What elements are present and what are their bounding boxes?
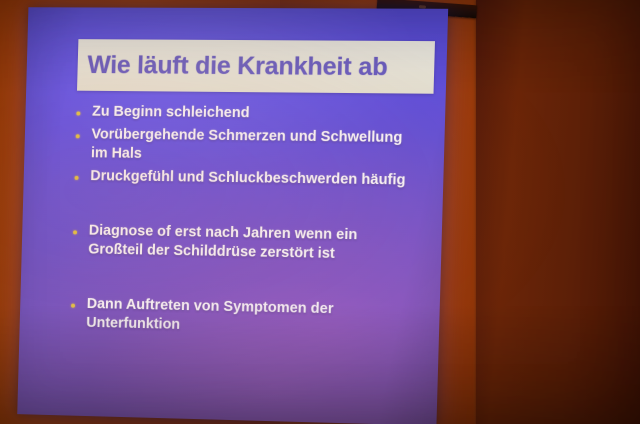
list-item: Zu Beginn schleichend: [74, 103, 435, 126]
bullet-marker-icon: [76, 111, 80, 115]
list-item-label: Zu Beginn schleichend: [92, 103, 250, 123]
bullet-marker-icon: [71, 304, 75, 308]
list-item: Diagnose of erst nach Jahren wenn ein Gr…: [70, 221, 431, 265]
photo-scene: Wie läuft die Krankheit ab Zu Beginn sch…: [0, 0, 640, 424]
list-item: Vorübergehende Schmerzen und Schwellung …: [73, 125, 435, 167]
list-item: Dann Auftreten von Symptomen der Unterfu…: [68, 295, 429, 341]
bullet-marker-icon: [76, 134, 80, 138]
slide-bullet-list: Zu Beginn schleichend Vorübergehende Sch…: [68, 103, 435, 345]
list-item: Druckgefühl und Schluckbeschwerden häufi…: [72, 167, 433, 191]
slide-title-banner: Wie läuft die Krankheit ab: [77, 39, 435, 94]
bullet-marker-icon: [75, 176, 79, 180]
projection-screen: Wie läuft die Krankheit ab Zu Beginn sch…: [17, 7, 448, 424]
wall-right-surface: [476, 0, 640, 424]
projection-screen-area: Wie läuft die Krankheit ab Zu Beginn sch…: [20, 8, 440, 420]
page-title: Wie läuft die Krankheit ab: [77, 51, 388, 82]
bullet-marker-icon: [73, 230, 77, 234]
list-item-label: Vorübergehende Schmerzen und Schwellung …: [91, 126, 412, 168]
slide-content: Wie läuft die Krankheit ab Zu Beginn sch…: [17, 7, 448, 424]
list-item-label: Diagnose of erst nach Jahren wenn ein Gr…: [88, 222, 409, 266]
list-item-label: Dann Auftreten von Symptomen der Unterfu…: [86, 295, 407, 340]
list-item-label: Druckgefühl und Schluckbeschwerden häufi…: [90, 167, 406, 190]
